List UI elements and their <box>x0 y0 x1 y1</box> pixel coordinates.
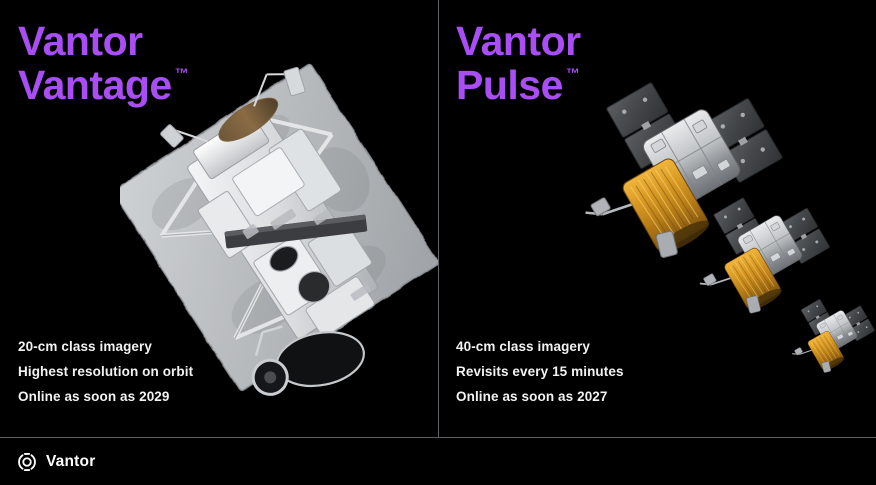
pulse-title-line2: Pulse <box>456 62 563 108</box>
spec-item: Highest resolution on orbit <box>18 359 193 384</box>
panel-divider <box>438 0 439 437</box>
spec-item: Revisits every 15 minutes <box>456 359 624 384</box>
slide-footer: Vantor <box>0 438 876 485</box>
pulse-spec-list: 40-cm class imagery Revisits every 15 mi… <box>456 334 624 409</box>
panels-container: Vantor Vantage™ 20-cm class imagery High… <box>0 0 876 437</box>
vantage-title: Vantor Vantage™ <box>18 20 186 108</box>
vantor-brand-lockup: Vantor <box>16 451 95 473</box>
vantor-aperture-logo-icon <box>16 451 38 473</box>
spec-item: Online as soon as 2029 <box>18 384 193 409</box>
spec-item: 40-cm class imagery <box>456 334 624 359</box>
spec-item: Online as soon as 2027 <box>456 384 624 409</box>
vantage-spec-list: 20-cm class imagery Highest resolution o… <box>18 334 193 409</box>
vantage-title-line2: Vantage <box>18 62 172 108</box>
product-comparison-slide: Vantor Vantage™ 20-cm class imagery High… <box>0 0 876 485</box>
vantage-trademark-symbol: ™ <box>175 65 189 81</box>
pulse-trademark-symbol: ™ <box>566 65 580 81</box>
panel-vantage: Vantor Vantage™ 20-cm class imagery High… <box>0 0 438 437</box>
pulse-title-line1: Vantor <box>456 18 581 64</box>
pulse-satellite-3 <box>792 299 875 382</box>
pulse-title: Vantor Pulse™ <box>456 20 581 108</box>
spec-item: 20-cm class imagery <box>18 334 193 359</box>
brand-name: Vantor <box>46 453 95 471</box>
panel-pulse: Vantor Pulse™ 40-cm class imagery Revisi… <box>438 0 876 437</box>
vantage-title-line1: Vantor <box>18 18 143 64</box>
